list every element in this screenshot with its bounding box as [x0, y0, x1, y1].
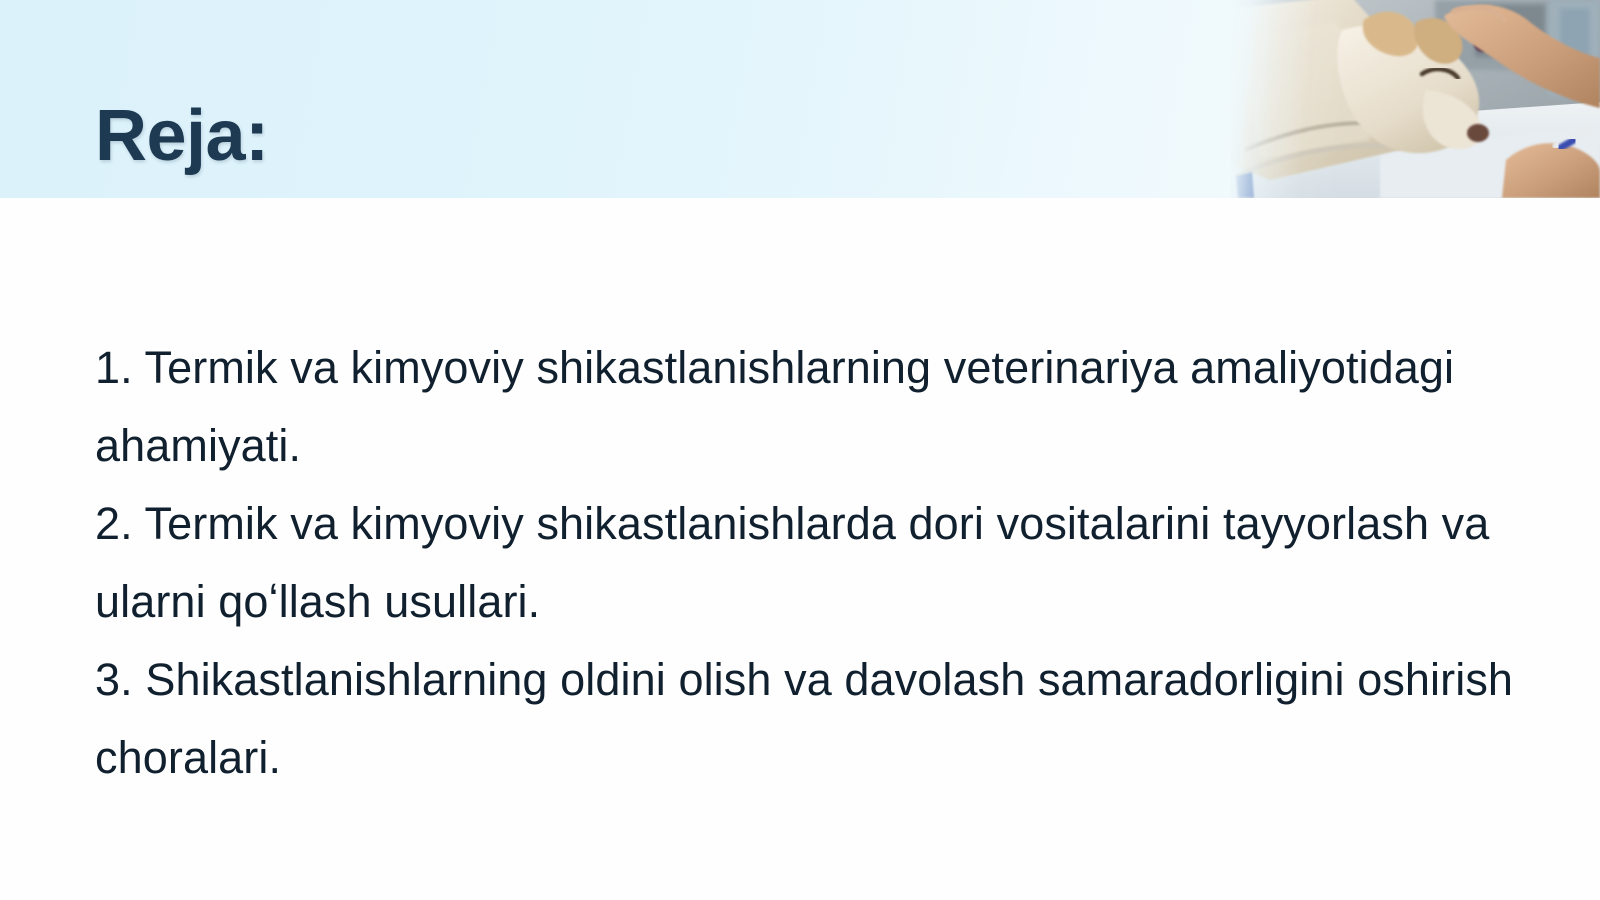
presentation-slide: Reja:	[0, 0, 1600, 900]
slide-body: 1. Termik va kimyoviy shikastlanishlarni…	[0, 198, 1600, 900]
agenda-item-1: 1. Termik va kimyoviy shikastlanishlarni…	[95, 329, 1515, 485]
agenda-list: 1. Termik va kimyoviy shikastlanishlarni…	[95, 329, 1515, 797]
vet-dog-photo	[1230, 0, 1600, 198]
agenda-item-3: 3. Shikastlanishlarning oldini olish va …	[95, 641, 1515, 797]
page-title: Reja:	[95, 95, 269, 178]
vet-dog-illustration	[1230, 0, 1600, 198]
slide-header-band: Reja:	[0, 0, 1600, 198]
agenda-item-2: 2. Termik va kimyoviy shikastlanishlarda…	[95, 485, 1515, 641]
